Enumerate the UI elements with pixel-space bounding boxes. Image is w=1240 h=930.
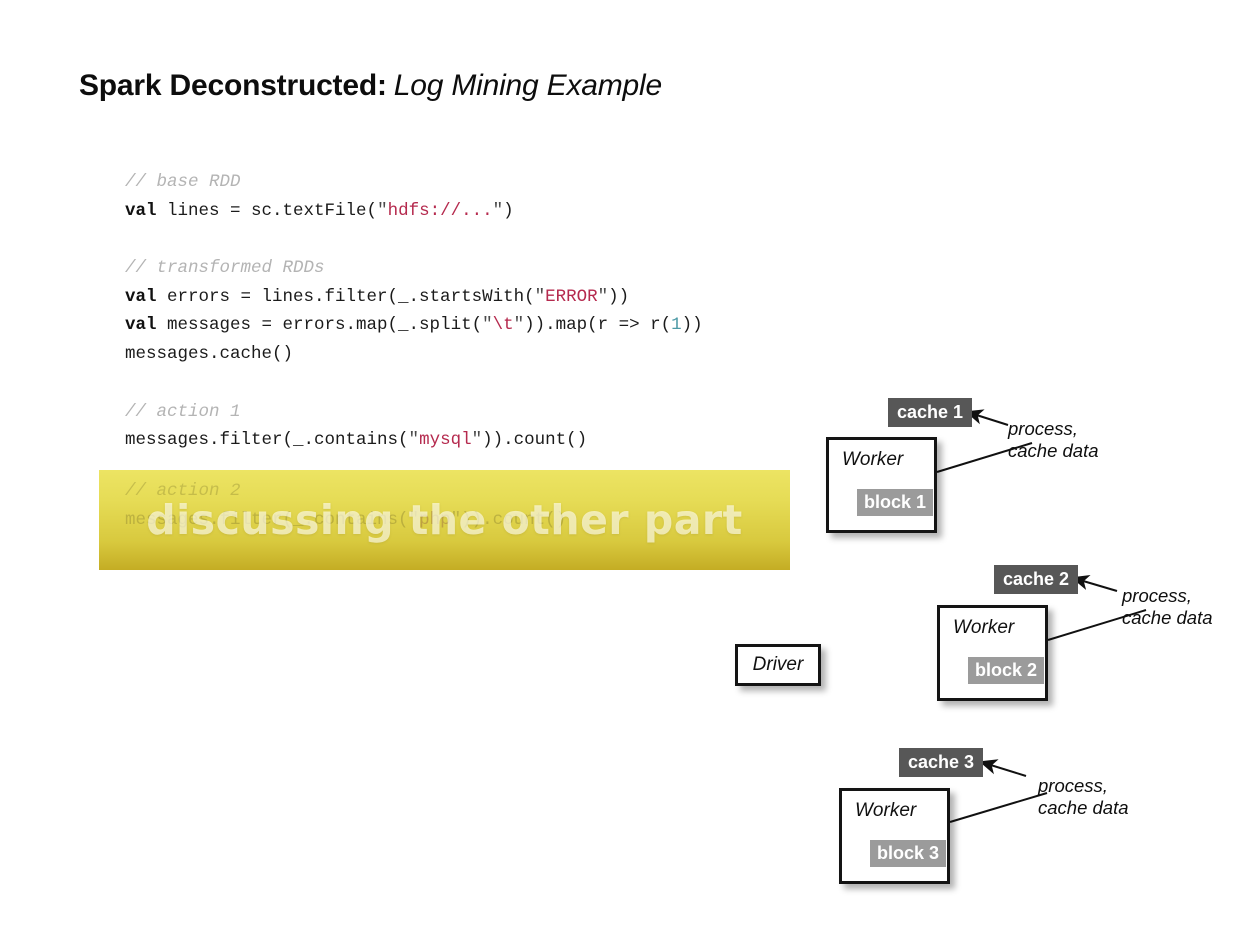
worker-node-1[interactable]: Worker block 1 xyxy=(826,437,937,533)
code-token-kw: val xyxy=(125,201,157,221)
faded-code-suffix: )).count() xyxy=(461,510,566,530)
faded-code-listing: // action 2 messages.filter(_.contains("… xyxy=(125,477,566,534)
code-token-str: \t xyxy=(493,315,514,335)
code-line xyxy=(125,225,703,254)
annotation-worker-2: process, cache data xyxy=(1122,585,1213,629)
faded-code-string: php xyxy=(419,510,451,530)
code-line: // transformed RDDs xyxy=(125,254,703,283)
arrow-cache-2 xyxy=(1073,578,1117,591)
code-line xyxy=(125,369,703,398)
code-line: // action 1 xyxy=(125,398,703,427)
worker-node-2[interactable]: Worker block 2 xyxy=(937,605,1048,701)
page-title: Spark Deconstructed:Log Mining Example xyxy=(79,66,662,106)
code-token-plain: )).count() xyxy=(482,430,587,450)
faded-code-prefix: messages.filter(_.contains( xyxy=(125,510,409,530)
code-line: val lines = sc.textFile("hdfs://...") xyxy=(125,197,703,226)
block-badge-2[interactable]: block 2 xyxy=(968,657,1044,684)
annotation-worker-3: process, cache data xyxy=(1038,775,1129,819)
code-listing: // base RDDval lines = sc.textFile("hdfs… xyxy=(125,168,703,455)
code-token-plain: )) xyxy=(608,287,629,307)
code-token-plain: messages.filter(_.contains( xyxy=(125,430,409,450)
driver-label: Driver xyxy=(753,654,804,676)
code-token-str: ERROR xyxy=(545,287,598,307)
code-line: messages.filter(_.contains("mysql")).cou… xyxy=(125,426,703,455)
code-token-str: hdfs://... xyxy=(388,201,493,221)
highlight-band: // action 2 messages.filter(_.contains("… xyxy=(99,470,790,570)
annotation-worker-1: process, cache data xyxy=(1008,418,1099,462)
worker-label-3: Worker xyxy=(855,800,916,822)
faded-code-close-quote: " xyxy=(451,510,462,530)
code-token-kw: val xyxy=(125,287,157,307)
code-comment: // transformed RDDs xyxy=(125,258,325,278)
code-line: // base RDD xyxy=(125,168,703,197)
annotation-worker-3-line1: process, xyxy=(1038,775,1129,797)
code-comment: // base RDD xyxy=(125,172,241,192)
faded-code-comment: // action 2 xyxy=(125,481,241,501)
code-token-qt: " xyxy=(535,287,546,307)
code-token-qt: " xyxy=(409,430,420,450)
worker-label-2: Worker xyxy=(953,617,1014,639)
code-token-str: mysql xyxy=(419,430,472,450)
arrow-cache-1 xyxy=(967,412,1008,425)
cache-badge-3[interactable]: cache 3 xyxy=(899,748,983,777)
code-token-qt: " xyxy=(377,201,388,221)
code-token-plain: ) xyxy=(503,201,514,221)
code-token-plain: errors = lines.filter(_.startsWith( xyxy=(157,287,535,307)
page-title-strong: Spark Deconstructed: xyxy=(79,69,387,102)
code-token-qt: " xyxy=(472,430,483,450)
code-line: messages.cache() xyxy=(125,340,703,369)
worker-node-3[interactable]: Worker block 3 xyxy=(839,788,950,884)
annotation-worker-1-line1: process, xyxy=(1008,418,1099,440)
driver-node[interactable]: Driver xyxy=(735,644,821,686)
annotation-worker-3-line2: cache data xyxy=(1038,797,1129,819)
code-token-plain: )) xyxy=(682,315,703,335)
code-token-plain: messages = errors.map(_.split( xyxy=(157,315,483,335)
connector-worker-3 xyxy=(950,793,1047,822)
code-comment: // action 1 xyxy=(125,402,241,422)
code-line: val messages = errors.map(_.split("\t"))… xyxy=(125,311,703,340)
code-token-plain: lines = sc.textFile( xyxy=(157,201,378,221)
code-token-qt: " xyxy=(482,315,493,335)
code-line: val errors = lines.filter(_.startsWith("… xyxy=(125,283,703,312)
code-token-qt: " xyxy=(598,287,609,307)
annotation-worker-2-line1: process, xyxy=(1122,585,1213,607)
code-token-num: 1 xyxy=(671,315,682,335)
page-title-emphasis: Log Mining Example xyxy=(387,69,662,102)
annotation-worker-1-line2: cache data xyxy=(1008,440,1099,462)
arrow-cache-3 xyxy=(981,762,1026,776)
block-badge-3[interactable]: block 3 xyxy=(870,840,946,867)
cache-badge-2[interactable]: cache 2 xyxy=(994,565,1078,594)
code-token-qt: " xyxy=(493,201,504,221)
worker-label-1: Worker xyxy=(842,449,903,471)
code-token-plain: )).map(r => r( xyxy=(524,315,671,335)
code-token-qt: " xyxy=(514,315,525,335)
code-token-kw: val xyxy=(125,315,157,335)
faded-code-open-quote: " xyxy=(409,510,420,530)
annotation-worker-2-line2: cache data xyxy=(1122,607,1213,629)
cache-badge-1[interactable]: cache 1 xyxy=(888,398,972,427)
block-badge-1[interactable]: block 1 xyxy=(857,489,933,516)
code-token-plain: messages.cache() xyxy=(125,344,293,364)
